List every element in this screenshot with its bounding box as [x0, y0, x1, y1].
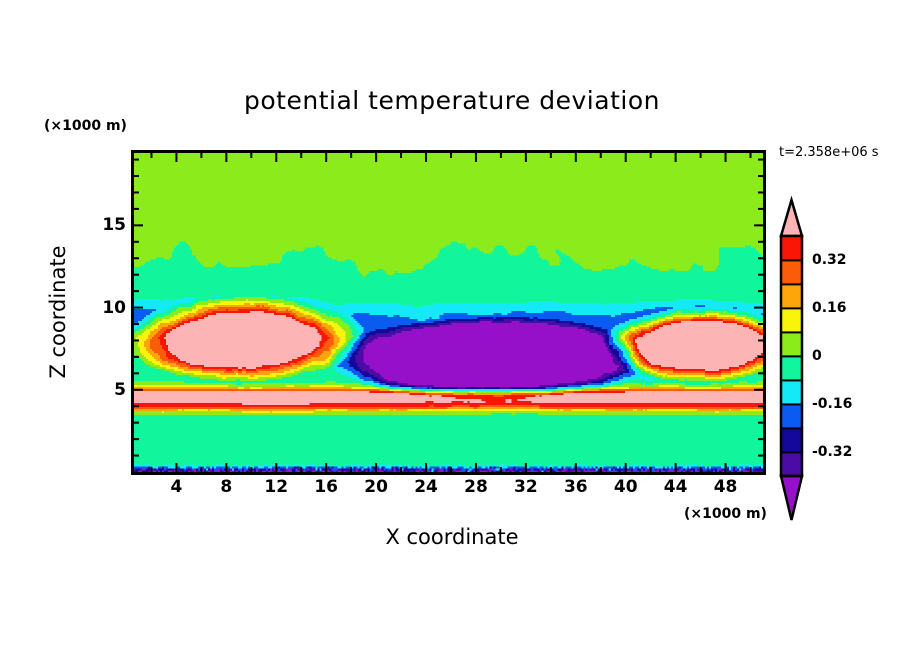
x-tick-label: 24	[414, 477, 438, 497]
x-tick-label: 36	[564, 477, 588, 497]
colorbar-tick-label: -0.32	[812, 444, 852, 460]
figure-canvas: potential temperature deviation (×1000 m…	[0, 0, 904, 654]
x-tick-label: 12	[264, 477, 288, 497]
x-tick-label: 16	[314, 477, 338, 497]
x-tick-label: 8	[220, 477, 232, 497]
x-tick-label: 32	[514, 477, 538, 497]
y-tick-label: 15	[86, 215, 126, 235]
x-tick-label: 40	[614, 477, 638, 497]
x-tick-label: 28	[464, 477, 488, 497]
colorbar-tick-label: 0	[812, 348, 822, 364]
y-tick-label: 10	[86, 298, 126, 318]
colorbar-tick-label: 0.32	[812, 252, 847, 268]
colorbar-tick-label: 0.16	[812, 300, 847, 316]
y-tick-label: 5	[86, 380, 126, 400]
x-tick-label: 4	[171, 477, 183, 497]
x-tick-label: 20	[364, 477, 388, 497]
contour-plot	[0, 0, 904, 654]
colorbar-tick-label: -0.16	[812, 396, 852, 412]
x-tick-label: 44	[664, 477, 688, 497]
x-tick-label: 48	[714, 477, 738, 497]
